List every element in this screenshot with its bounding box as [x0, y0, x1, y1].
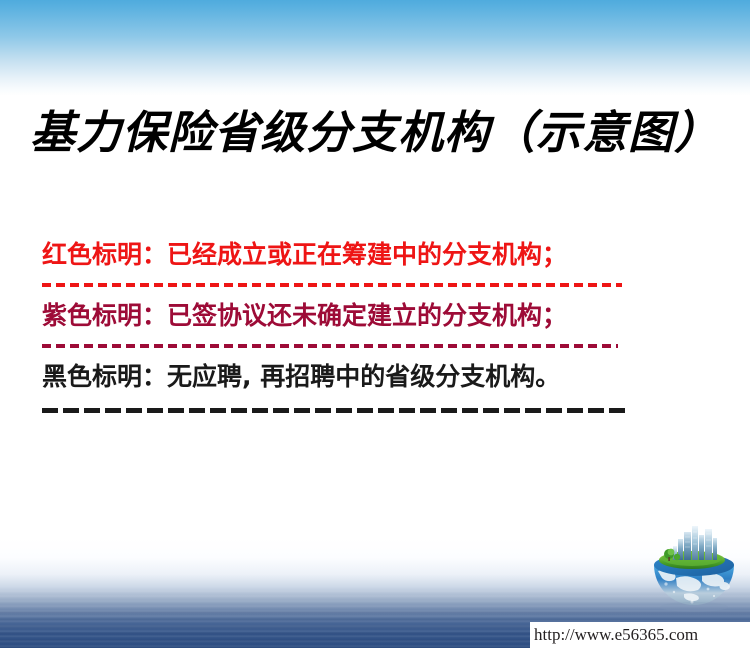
- watermark-url: http://www.e56365.com: [530, 625, 698, 645]
- sky-gradient-banner: [0, 0, 750, 96]
- legend-item-purple: 紫色标明：已签协议还未确定建立的分支机构；: [42, 299, 682, 348]
- legend-block: 红色标明：已经成立或正在筹建中的分支机构； 紫色标明：已签协议还未确定建立的分支…: [42, 238, 682, 425]
- watermark-box: http://www.e56365.com: [530, 622, 750, 648]
- legend-divider-purple: [42, 344, 618, 348]
- globe-icon: [644, 522, 744, 618]
- legend-divider-red: [42, 283, 622, 287]
- legend-item-black: 黑色标明：无应聘, 再招聘中的省级分支机构。: [42, 360, 682, 413]
- earth-city-globe-logo: [644, 522, 744, 618]
- legend-label-red: 红色标明：已经成立或正在筹建中的分支机构；: [42, 238, 682, 272]
- presentation-slide: 基力保险省级分支机构（示意图） 红色标明：已经成立或正在筹建中的分支机构； 紫色…: [0, 0, 750, 648]
- legend-divider-black: [42, 408, 630, 413]
- slide-title: 基力保险省级分支机构（示意图）: [0, 104, 750, 162]
- legend-label-purple: 紫色标明：已签协议还未确定建立的分支机构；: [42, 299, 682, 333]
- legend-label-black: 黑色标明：无应聘, 再招聘中的省级分支机构。: [42, 360, 682, 394]
- legend-item-red: 红色标明：已经成立或正在筹建中的分支机构；: [42, 238, 682, 287]
- city-skyline-icon: [673, 526, 717, 560]
